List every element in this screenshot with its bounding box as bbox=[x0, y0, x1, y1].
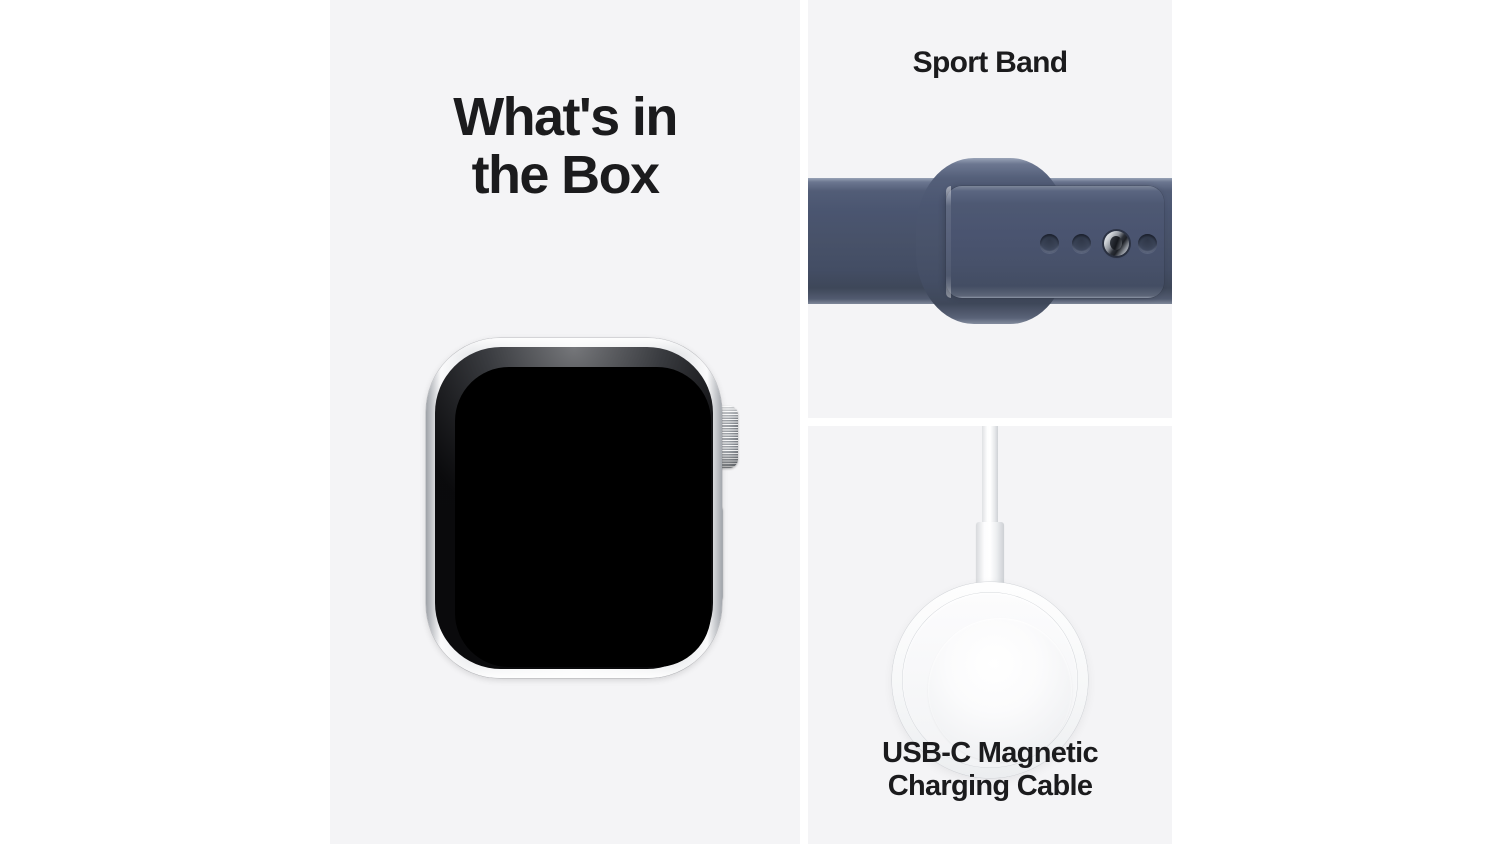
product-gallery: What's in the Box Sport Band bbox=[0, 0, 1500, 844]
panel-sport-band: Sport Band bbox=[808, 0, 1172, 418]
watch-display bbox=[455, 367, 711, 667]
band-pin bbox=[1104, 231, 1129, 256]
cable-wire bbox=[982, 426, 998, 534]
charging-cable-label: USB-C Magnetic Charging Cable bbox=[808, 737, 1172, 804]
band-hole-1 bbox=[1040, 234, 1059, 253]
watch-bezel bbox=[435, 347, 713, 669]
page-title: What's in the Box bbox=[330, 88, 800, 205]
watch-case bbox=[426, 338, 722, 678]
sport-band-product-image bbox=[808, 0, 1172, 418]
band-hole-2 bbox=[1072, 234, 1091, 253]
band-hole-4 bbox=[1138, 234, 1157, 253]
panel-whats-in-the-box: What's in the Box bbox=[330, 0, 800, 844]
panel-charging-cable: USB-C Magnetic Charging Cable bbox=[808, 426, 1172, 844]
apple-watch-product-image bbox=[426, 338, 732, 678]
